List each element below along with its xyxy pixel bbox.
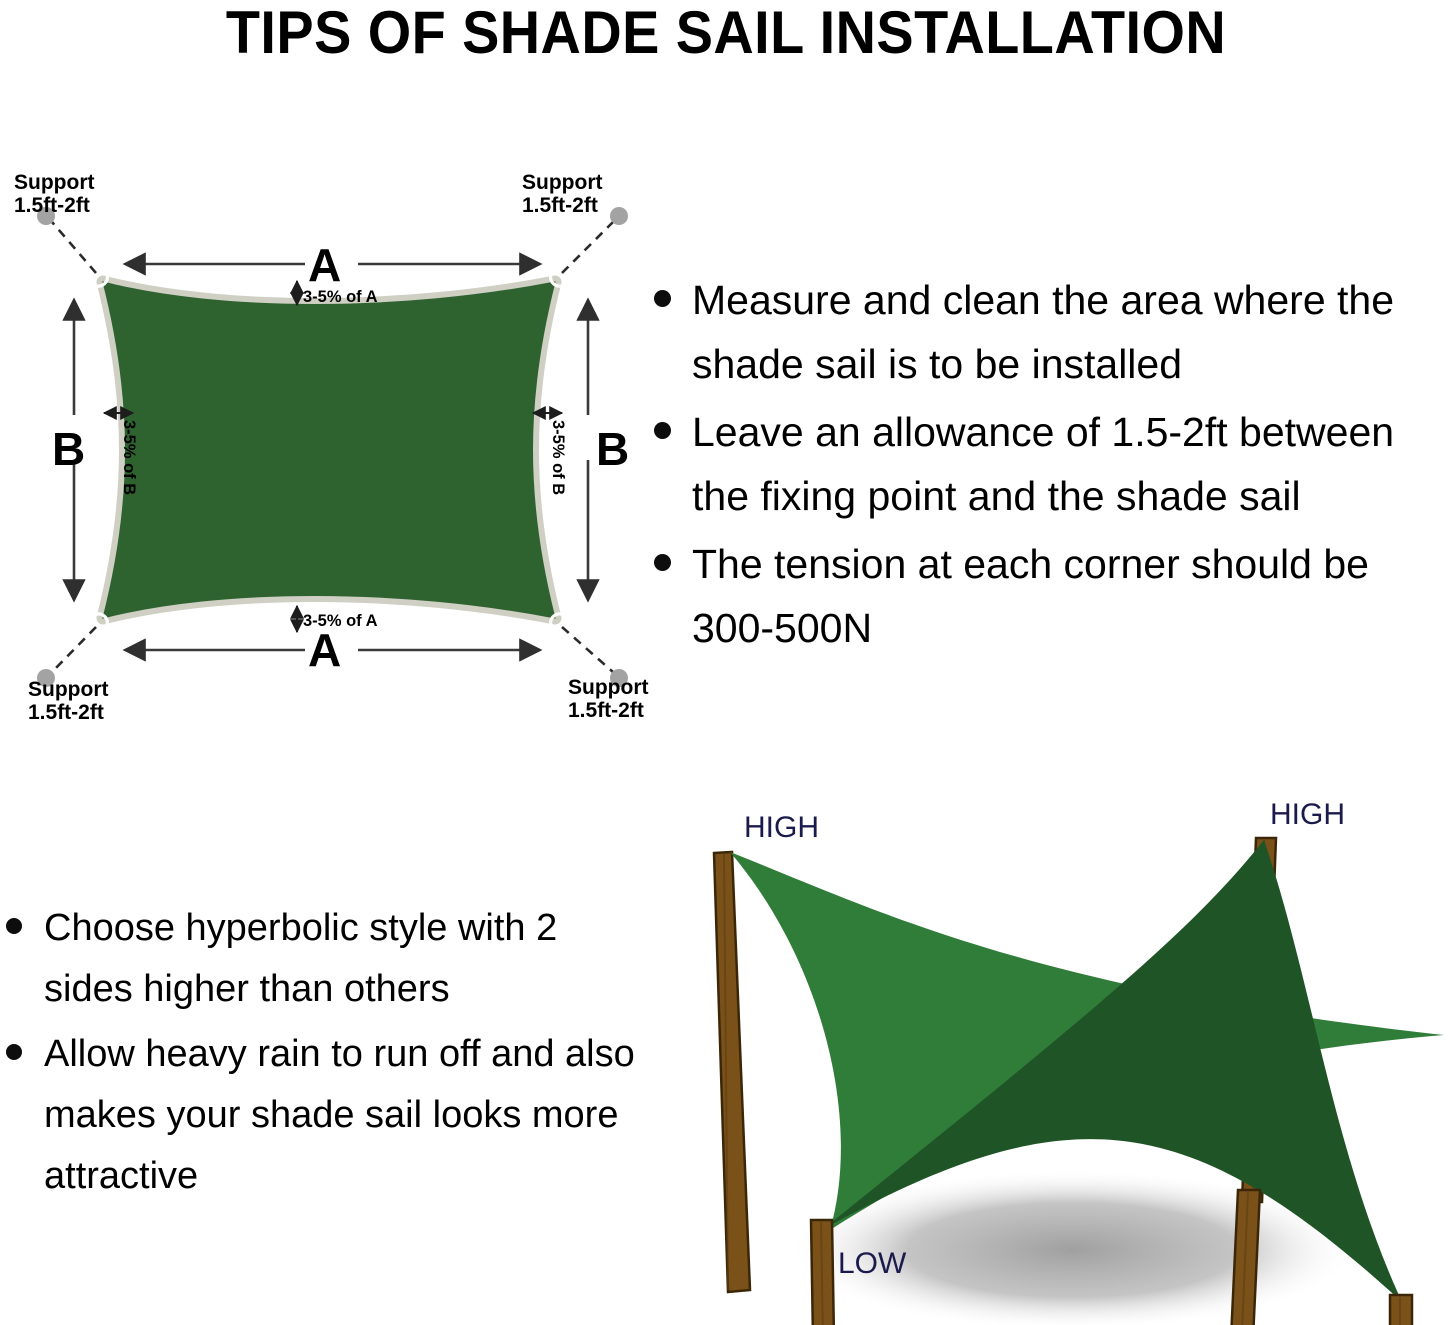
rectangular-sail-diagram: Support 1.5ft-2ft Support 1.5ft-2ft Supp… [0,160,660,740]
list-item-text: Allow heavy rain to run off and also mak… [44,1033,635,1197]
dimension-label-a-bottom: A [308,624,341,676]
post-high-left [714,852,750,1292]
list-item-text: Measure and clean the area where the sha… [692,277,1394,387]
list-item: Choose hyperbolic style with 2 sides hig… [0,898,640,1020]
bullet-dot-icon [654,290,671,307]
bullet-dot-icon [654,422,671,439]
label-high-left: HIGH [744,811,819,844]
label-low-left: LOW [838,1247,907,1280]
list-item-text: The tension at each corner should be 300… [692,541,1369,651]
tips-list-bottom: Choose hyperbolic style with 2 sides hig… [0,898,640,1211]
support-label-top-right-line1: Support [522,171,602,194]
dimension-label-b-right: B [596,423,629,475]
dimension-a-top: A [125,239,540,291]
post-low-right [1390,1295,1412,1325]
support-label-bottom-left-line2: 1.5ft-2ft [28,701,104,724]
support-label-top-left-line2: 1.5ft-2ft [14,194,90,217]
list-item: Measure and clean the area where the sha… [640,268,1452,396]
support-label-bottom-left-line1: Support [28,678,108,701]
list-item: The tension at each corner should be 300… [640,532,1452,660]
support-label-bottom-right-line1: Support [568,676,648,699]
bullet-dot-icon [654,554,671,571]
list-item: Allow heavy rain to run off and also mak… [0,1024,640,1207]
dimension-label-b-left: B [52,423,85,475]
dimension-a-bottom: A [125,624,540,676]
tips-list-top: Measure and clean the area where the sha… [640,268,1452,664]
hyperbolic-sail-diagram: HIGH HIGH LOW LOW [672,790,1452,1325]
dimension-label-a-top: A [308,239,341,291]
label-high-right: HIGH [1270,798,1345,831]
bullet-dot-icon [6,918,22,934]
curve-label-a-bottom: 3-5% of A [303,612,378,630]
post-low-left [811,1220,835,1325]
support-dot-icon [610,207,628,225]
sail-shape [103,282,555,618]
bullet-dot-icon [6,1044,22,1060]
support-label-top-left-line1: Support [14,171,94,194]
list-item-text: Leave an allowance of 1.5-2ft between th… [692,409,1394,519]
support-label-top-right-line2: 1.5ft-2ft [522,194,598,217]
curve-note-a-bottom: 3-5% of A [297,606,378,632]
curve-label-a-top: 3-5% of A [303,288,378,306]
support-label-bottom-right-line2: 1.5ft-2ft [568,699,644,722]
dimension-b-right: B [588,300,629,600]
list-item: Leave an allowance of 1.5-2ft between th… [640,400,1452,528]
list-item-text: Choose hyperbolic style with 2 sides hig… [44,907,557,1010]
curve-note-b-left: 3-5% of B [104,413,138,495]
curve-label-b-right: 3-5% of B [549,420,567,495]
curve-label-b-left: 3-5% of B [120,420,138,495]
page-title: TIPS OF SHADE SAIL INSTALLATION [51,2,1401,64]
dimension-b-left: B [52,300,85,600]
